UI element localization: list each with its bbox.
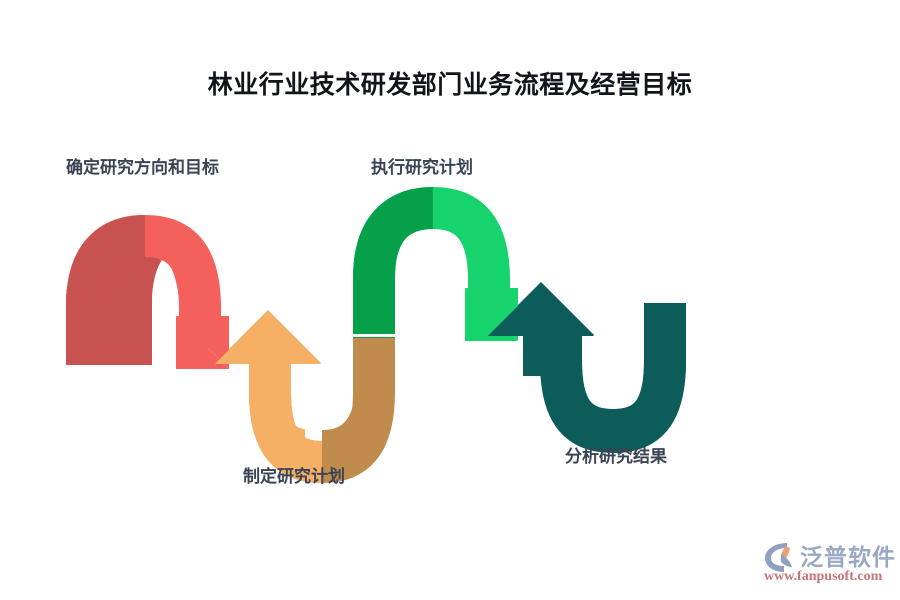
process-flow-graphic xyxy=(0,0,900,600)
brand-url-text: www.fanpusoft.com xyxy=(764,569,882,585)
stage-label-3: 执行研究计划 xyxy=(371,158,473,178)
stage-label-1: 确定研究方向和目标 xyxy=(66,158,219,178)
infographic-canvas: 林业行业技术研发部门业务流程及经营目标 xyxy=(0,0,900,600)
stage-label-2: 制定研究计划 xyxy=(243,467,345,487)
orange-up-arrowhead-top xyxy=(215,311,321,404)
flow-segment-stage-3 xyxy=(353,208,518,341)
green-arch-stroke-dark-half xyxy=(374,208,433,338)
stage-label-4: 分析研究结果 xyxy=(565,447,667,467)
flow-segment-stage-1 xyxy=(66,232,229,369)
green-orange-joint-gap xyxy=(353,334,395,337)
brand-name-text: 泛普软件 xyxy=(800,538,896,572)
orange-valley-overlay xyxy=(215,311,374,462)
brand-watermark: 泛普软件 www.fanpusoft.com xyxy=(762,536,892,592)
